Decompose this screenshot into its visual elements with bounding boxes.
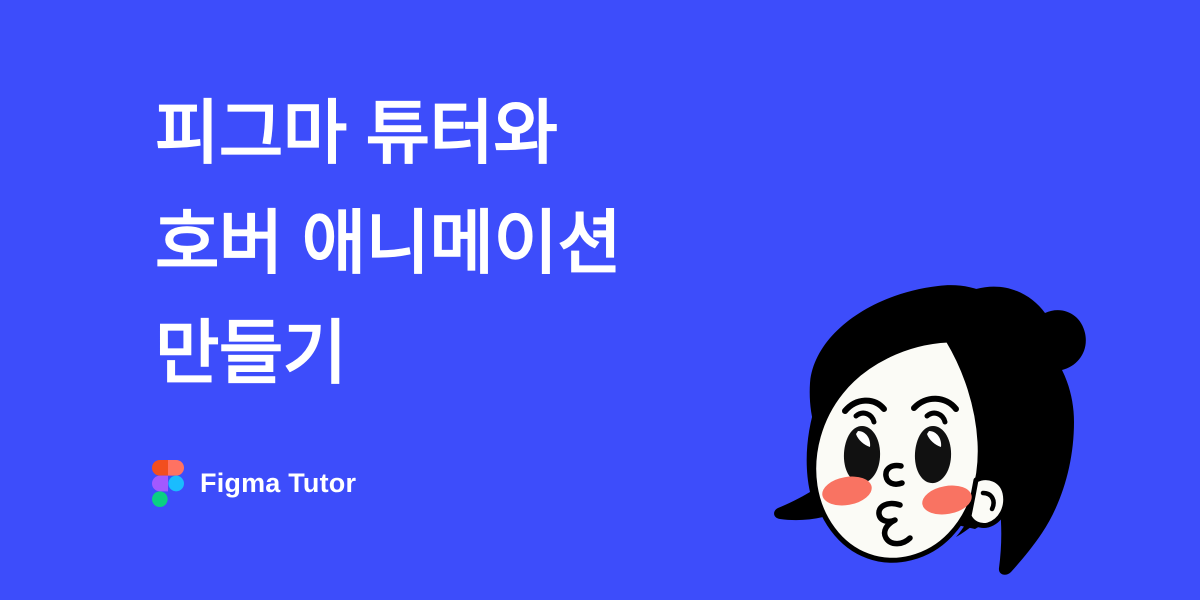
figma-logo-icon bbox=[152, 460, 184, 507]
figma-tutor-banner: 피그마 튜터와 호버 애니메이션 만들기 Figma Tutor bbox=[0, 0, 1200, 600]
headline-line-2: 호버 애니메이션 bbox=[155, 188, 775, 298]
headline-line-3: 만들기 bbox=[155, 298, 775, 408]
page-title: 피그마 튜터와 호버 애니메이션 만들기 bbox=[155, 78, 775, 408]
ear-icon bbox=[969, 478, 1006, 526]
girl-illustration bbox=[770, 250, 1100, 600]
headline-line-1: 피그마 튜터와 bbox=[155, 78, 775, 188]
brand-lockup: Figma Tutor bbox=[152, 460, 356, 507]
brand-name: Figma Tutor bbox=[200, 470, 356, 497]
